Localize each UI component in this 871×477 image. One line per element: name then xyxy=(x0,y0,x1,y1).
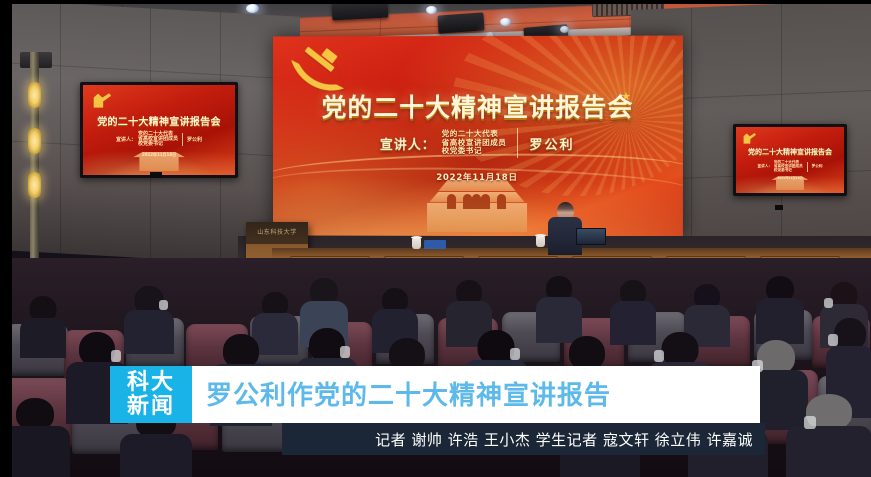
audience-member xyxy=(536,276,582,338)
speaker-title-3: 校党委书记 xyxy=(442,147,507,156)
lower-third-credits-bar: 记者 谢帅 许浩 王小杰 学生记者 寇文轩 徐立伟 许嘉诚 xyxy=(282,423,765,455)
side-left-date: 2022年11月18日 xyxy=(83,152,235,158)
pole-lamp xyxy=(28,128,41,154)
ceiling-spotlight xyxy=(560,26,569,33)
side-left-title: 党的二十大精神宣讲报告会 xyxy=(83,113,235,128)
tea-cup xyxy=(412,238,421,249)
pole-lamp xyxy=(28,172,41,198)
main-screen-speaker-block: 宣讲人： 党的二十大代表 省高校宣讲团成员 校党委书记 罗公利 xyxy=(273,128,683,158)
speaker-label: 宣讲人： xyxy=(380,134,436,153)
name-card xyxy=(424,240,446,249)
ceiling-spotlight xyxy=(426,6,437,14)
ceiling-spotlight xyxy=(500,18,511,26)
ceiling-spotlight xyxy=(246,4,259,13)
display-stand xyxy=(775,205,783,210)
side-display-left: 党的二十大精神宣讲报告会 宣讲人： 党的二十大代表 省高校宣讲团成员 校党委书记… xyxy=(80,82,238,178)
speaker-name: 罗公利 xyxy=(529,133,574,152)
side-left-title-3: 校党委书记 xyxy=(138,142,178,147)
main-screen-title: 党的二十大精神宣讲报告会 xyxy=(273,88,683,124)
podium-institution-text: 山东科技大学 xyxy=(246,227,308,236)
news-logo-line1: 科大 xyxy=(127,371,175,395)
speaker-divider xyxy=(517,128,518,158)
audience-member xyxy=(124,286,174,346)
side-right-speaker-name: 罗公利 xyxy=(812,164,823,169)
news-program-logo: 科大 新闻 xyxy=(110,366,192,423)
display-stand xyxy=(150,172,162,178)
tea-cup xyxy=(536,236,545,247)
audience-member xyxy=(20,296,66,352)
audience-member xyxy=(756,276,804,340)
side-right-title: 党的二十大精神宣讲报告会 xyxy=(736,147,844,157)
tiananmen-gate-graphic xyxy=(417,180,537,232)
letterbox-top xyxy=(0,0,871,4)
cpc-emblem-icon xyxy=(92,92,112,110)
side-display-right: 党的二十大精神宣讲报告会 宣讲人： 党的二十大代表 省高校宣讲团成员 校党委书记… xyxy=(733,124,847,196)
video-frame: 党的二十大精神宣讲报告会 宣讲人： 党的二十大代表 省高校宣讲团成员 校党委书记… xyxy=(0,0,871,477)
side-left-speaker-label: 宣讲人： xyxy=(116,136,136,143)
audience-member xyxy=(610,280,656,340)
main-led-screen: 党的二十大精神宣讲报告会 宣讲人： 党的二十大代表 省高校宣讲团成员 校党委书记… xyxy=(273,36,683,237)
side-right-speaker-label: 宣讲人： xyxy=(758,164,772,169)
audience-member xyxy=(786,394,871,477)
ceiling-speaker xyxy=(437,12,484,33)
lower-third-credits: 记者 谢帅 许浩 王小杰 学生记者 寇文轩 徐立伟 许嘉诚 xyxy=(375,429,765,450)
lower-third-headline: 罗公利作党的二十大精神宣讲报告 xyxy=(206,375,611,412)
side-left-speaker-name: 罗公利 xyxy=(187,136,202,143)
letterbox-left xyxy=(0,0,12,477)
cpc-hammer-sickle-emblem xyxy=(295,50,341,90)
main-screen-date: 2022年11月18日 xyxy=(273,171,683,183)
cpc-emblem-icon xyxy=(742,132,756,145)
side-right-title-3: 校党委书记 xyxy=(774,169,803,173)
pole-lamp xyxy=(28,82,41,108)
laptop xyxy=(576,228,606,245)
lower-third-white-bar: 罗公利作党的二十大精神宣讲报告 xyxy=(192,366,760,423)
side-right-date: 2022年11月18日 xyxy=(736,176,844,180)
news-logo-line2: 新闻 xyxy=(127,395,175,419)
